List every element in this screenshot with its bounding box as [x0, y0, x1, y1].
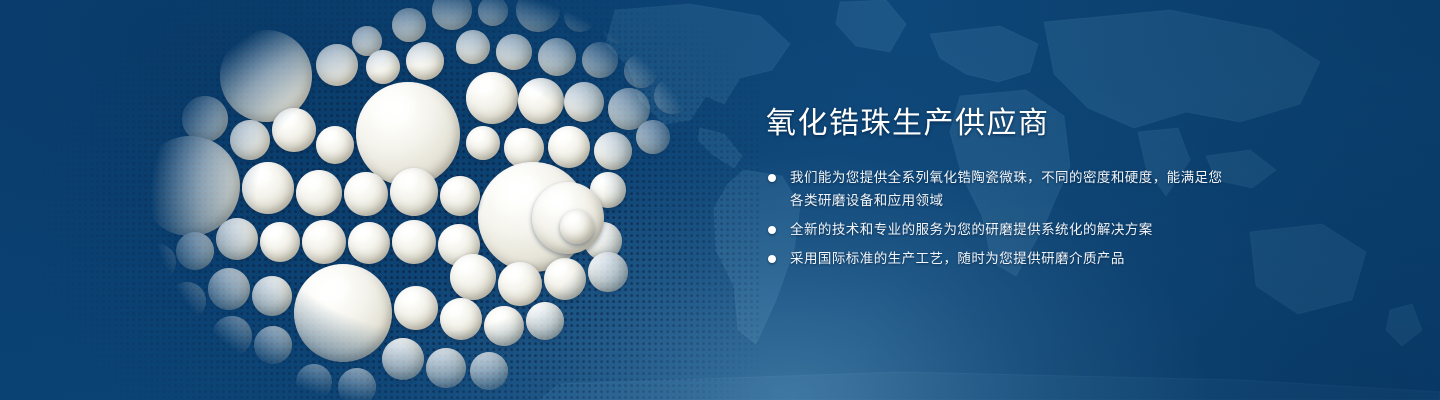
- hero-banner: 氧化锆珠生产供应商 我们能为您提供全系列氧化锆陶瓷微珠，不同的密度和硬度，能满足…: [0, 0, 1440, 400]
- list-item-label: 全新的技术和专业的服务为您的研磨提供系统化的解决方案: [790, 222, 1153, 237]
- filled-circle-bullet-icon: [768, 255, 776, 263]
- list-item: 全新的技术和专业的服务为您的研磨提供系统化的解决方案: [762, 218, 1232, 241]
- list-item-label: 我们能为您提供全系列氧化锆陶瓷微珠，不同的密度和硬度，能满足您各类研磨设备和应用…: [790, 170, 1222, 208]
- filled-circle-bullet-icon: [768, 174, 776, 182]
- list-item: 我们能为您提供全系列氧化锆陶瓷微珠，不同的密度和硬度，能满足您各类研磨设备和应用…: [762, 166, 1232, 212]
- banner-content: 氧化锆珠生产供应商 我们能为您提供全系列氧化锆陶瓷微珠，不同的密度和硬度，能满足…: [762, 104, 1232, 270]
- page-title: 氧化锆珠生产供应商: [766, 104, 1232, 144]
- filled-circle-bullet-icon: [768, 226, 776, 234]
- feature-list: 我们能为您提供全系列氧化锆陶瓷微珠，不同的密度和硬度，能满足您各类研磨设备和应用…: [762, 166, 1232, 270]
- list-item: 采用国际标准的生产工艺，随时为您提供研磨介质产品: [762, 247, 1232, 270]
- list-item-label: 采用国际标准的生产工艺，随时为您提供研磨介质产品: [790, 251, 1125, 266]
